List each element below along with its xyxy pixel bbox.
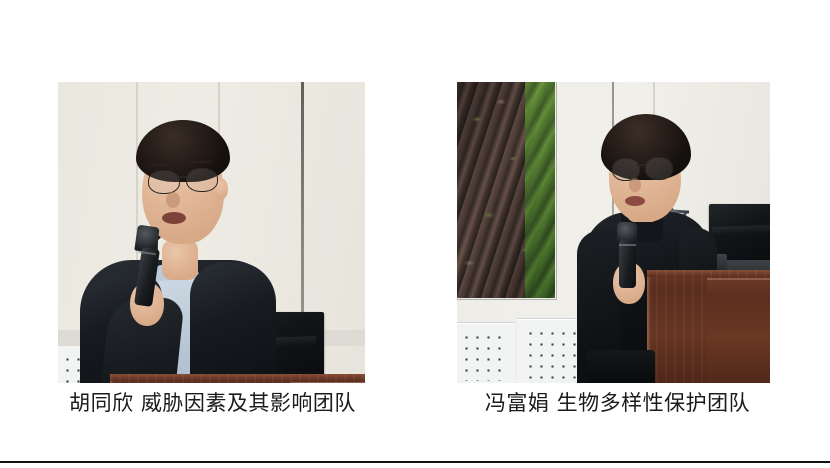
eyeglasses-left-lens-icon <box>148 170 180 194</box>
speaker-neck <box>162 240 198 280</box>
slide-bottom-rule <box>0 461 830 463</box>
eyeglasses-bridge-icon <box>637 164 646 166</box>
speaker-jacket-lapel-right <box>190 262 276 383</box>
eyeglasses-right-lens-icon <box>186 168 218 192</box>
speaker-nose <box>166 192 180 208</box>
speaker-mouth <box>625 196 645 206</box>
photo-scene-right <box>457 82 770 383</box>
photo-scene-left <box>58 82 365 383</box>
screen-glare <box>712 225 770 235</box>
wooden-podium-right-wing <box>302 382 365 383</box>
eyeglasses-right-lens-icon <box>645 157 673 180</box>
speaker-photo-female-at-podium <box>457 82 770 383</box>
projection-screen-frame <box>457 82 557 300</box>
vent-holes-texture <box>459 330 509 381</box>
wooden-podium-right-wing <box>707 278 770 383</box>
speaker-mouth <box>162 212 186 224</box>
photo-caption-left: 胡同欣 威胁因素及其影响团队 <box>40 390 385 416</box>
handheld-mic-body-icon <box>619 240 636 288</box>
photo-caption-right: 冯富娟 生物多样性保护团队 <box>445 390 790 416</box>
podium-edge-highlight <box>110 381 114 383</box>
slide-canvas: 胡同欣 威胁因素及其影响团队 冯富娟 生物多样性保护团队 <box>0 0 830 468</box>
speaker-skirt <box>587 350 655 383</box>
speaker-photo-male-at-podium <box>58 82 365 383</box>
speaker-nose <box>629 178 641 192</box>
wall-seam-icon <box>301 82 304 344</box>
handheld-mic-ring-icon <box>619 244 636 246</box>
perforated-vent-panel <box>457 322 515 383</box>
eyeglasses-bridge-icon <box>177 176 187 178</box>
